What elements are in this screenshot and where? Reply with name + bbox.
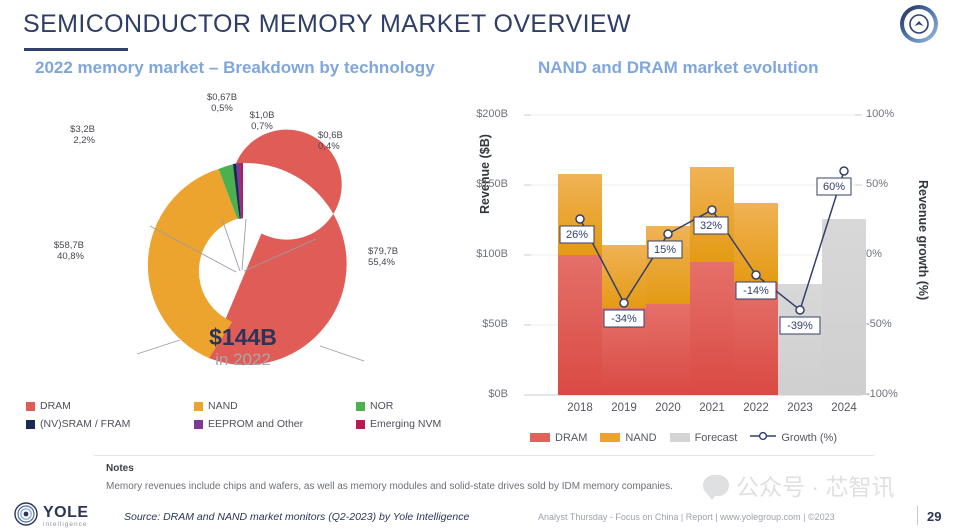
- svg-text:-39%: -39%: [787, 320, 813, 332]
- notes-body: Memory revenues include chips and wafers…: [106, 481, 673, 492]
- bar-dram-2021: [690, 262, 734, 395]
- bar-legend-label: DRAM: [555, 432, 587, 444]
- bar-chart-plot: 26% -34% 15% 32% -14% -39% 60%: [0, 0, 957, 532]
- bar-forecast-2024: [822, 219, 866, 395]
- bar-legend-item-nand: NAND: [600, 432, 656, 444]
- svg-text:26%: 26%: [566, 229, 588, 241]
- bar-dram-2018: [558, 255, 602, 395]
- notes-heading: Notes: [106, 463, 134, 474]
- forecast-bar-swatch-icon: [670, 433, 690, 442]
- source-note: Source: DRAM and NAND market monitors (Q…: [124, 511, 469, 523]
- bar-dram-2022: [734, 283, 778, 395]
- bar-legend-label: Growth (%): [781, 432, 837, 444]
- bar-legend-label: NAND: [625, 432, 656, 444]
- bar-legend-label: Forecast: [695, 432, 738, 444]
- x-tick-2024: 2024: [821, 402, 867, 414]
- growth-line-marker-icon: [750, 431, 776, 444]
- footer-meta: Analyst Thursday - Focus on China | Repo…: [538, 512, 835, 522]
- dram-bar-swatch-icon: [530, 433, 550, 442]
- page-number: 29: [927, 509, 941, 524]
- page-number-divider: [917, 506, 918, 525]
- x-tick-2020: 2020: [645, 402, 691, 414]
- bar-legend-item-growth: Growth (%): [750, 431, 837, 444]
- svg-text:-34%: -34%: [611, 313, 637, 325]
- notes-divider: [94, 455, 874, 456]
- bar-forecast-2023: [778, 284, 822, 395]
- x-tick-2019: 2019: [601, 402, 647, 414]
- yole-brand: YOLE: [43, 505, 89, 521]
- slide: SEMICONDUCTOR MEMORY MARKET OVERVIEW 202…: [0, 0, 957, 532]
- bar-chart-legend: DRAM NAND Forecast Growth (%): [530, 431, 837, 444]
- x-tick-2022: 2022: [733, 402, 779, 414]
- bar-legend-item-dram: DRAM: [530, 432, 587, 444]
- svg-text:32%: 32%: [700, 220, 722, 232]
- svg-text:60%: 60%: [823, 181, 845, 193]
- x-tick-2023: 2023: [777, 402, 823, 414]
- yole-logo: YOLE intelligence: [14, 502, 89, 531]
- svg-text:15%: 15%: [654, 244, 676, 256]
- yole-brand-sub: intelligence: [43, 522, 89, 529]
- x-tick-2018: 2018: [557, 402, 603, 414]
- nand-bar-swatch-icon: [600, 433, 620, 442]
- bars: [558, 167, 866, 395]
- svg-text:-14%: -14%: [743, 285, 769, 297]
- yole-spiral-icon: [14, 502, 38, 531]
- yole-wordmark: YOLE intelligence: [43, 505, 89, 529]
- bar-dram-2020: [646, 304, 690, 395]
- bar-legend-item-forecast: Forecast: [670, 432, 738, 444]
- x-tick-2021: 2021: [689, 402, 735, 414]
